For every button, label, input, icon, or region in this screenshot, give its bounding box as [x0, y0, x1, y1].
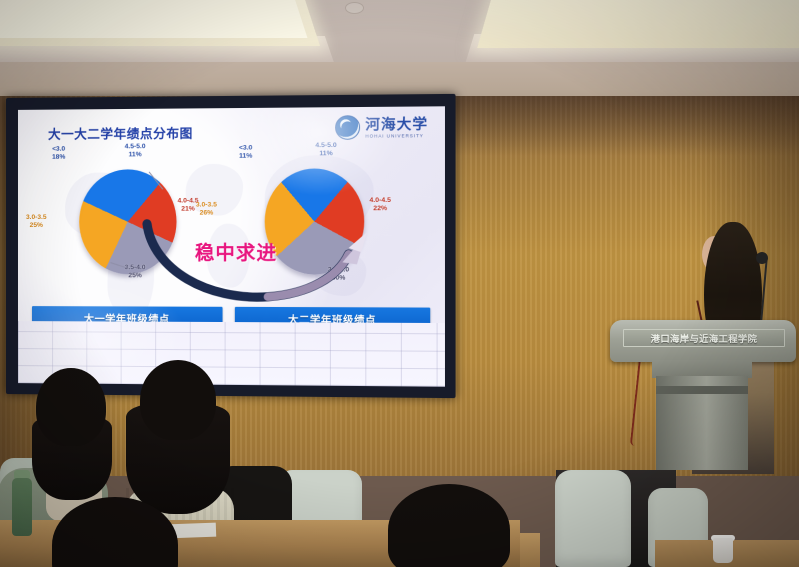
- presentation-slide: 大一大二学年绩点分布图 河海大学 HOHAI UNIVERSITY <3.018…: [18, 106, 445, 386]
- microphone-icon: [756, 252, 768, 264]
- pie-label-right-40-45: 4.0-4.522%: [369, 197, 390, 213]
- lectern: 港口海岸与近海工程学院: [610, 320, 796, 470]
- conference-room-scene: 大一大二学年绩点分布图 河海大学 HOHAI UNIVERSITY <3.018…: [0, 0, 799, 567]
- water-bottle: [12, 478, 32, 536]
- university-logo: 河海大学 HOHAI UNIVERSITY: [335, 115, 428, 140]
- pie-label-right-30-35: 3.0-3.526%: [196, 201, 217, 217]
- pie-label-right-35-40: 3.5-4.030%: [328, 266, 349, 282]
- hohai-seal-icon: [335, 115, 360, 140]
- pie-label-left-45-50: 4.5-5.011%: [125, 143, 146, 159]
- audience-head: [36, 368, 106, 446]
- logo-name-cn: 河海大学: [365, 116, 428, 131]
- pie-chart-sophomore: <3.011% 4.5-5.011% 4.0-4.522% 3.5-4.030%: [220, 146, 413, 300]
- lectern-nameplate: 港口海岸与近海工程学院: [623, 329, 785, 347]
- pie-slices-freshman: [79, 169, 176, 274]
- ceiling-light-panel-right: [477, 0, 799, 48]
- projection-screen[interactable]: 大一大二学年绩点分布图 河海大学 HOHAI UNIVERSITY <3.018…: [6, 94, 456, 398]
- pie-chart-group: <3.018% 4.5-5.011% 4.0-4.521% 3.5-4.025%: [18, 145, 445, 299]
- foreground-head: [388, 484, 510, 567]
- audience-head: [140, 360, 216, 440]
- lectern-band: [656, 386, 748, 394]
- lectern-top: 港口海岸与近海工程学院: [610, 320, 796, 362]
- chair: [555, 470, 631, 567]
- pie-chart-freshman: <3.018% 4.5-5.011% 4.0-4.521% 3.5-4.025%: [36, 147, 225, 299]
- screen-display-area: 大一大二学年绩点分布图 河海大学 HOHAI UNIVERSITY <3.018…: [18, 106, 445, 386]
- smoke-detector-icon: [345, 2, 364, 14]
- logo-name-en: HOHAI UNIVERSITY: [365, 133, 428, 139]
- pie-label-right-lt3: <3.011%: [239, 144, 252, 160]
- slide-title: 大一大二学年绩点分布图: [48, 123, 193, 143]
- pie-label-left-lt3: <3.018%: [52, 146, 65, 162]
- ceiling-light-panel-left: [0, 0, 320, 46]
- slide-slogan: 稳中求进: [180, 238, 293, 265]
- paper-cup: [713, 538, 733, 563]
- lectern-nameplate-text: 港口海岸与近海工程学院: [651, 331, 758, 345]
- pie-label-left-35-40: 3.5-4.025%: [125, 264, 146, 280]
- pie-label-right-45-50: 4.5-5.011%: [315, 142, 336, 158]
- pie-label-left-30-35: 3.0-3.525%: [26, 214, 47, 230]
